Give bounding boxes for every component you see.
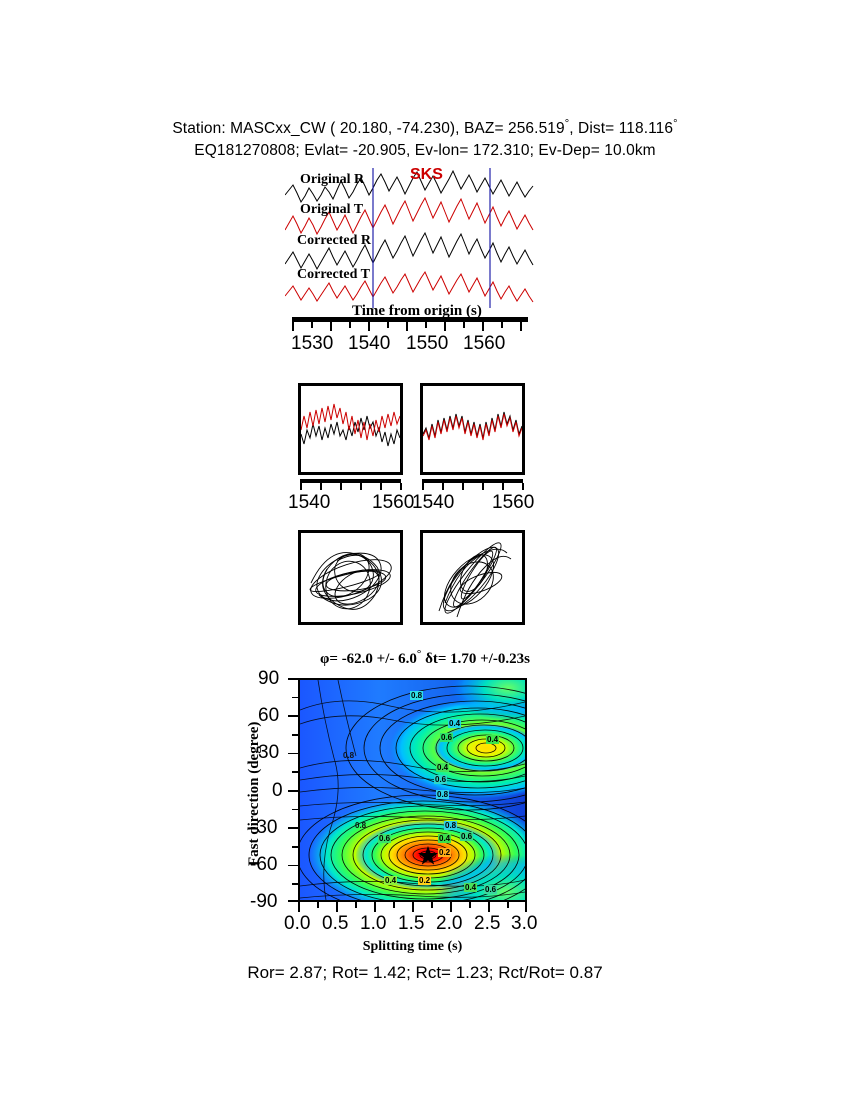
contour-xtick-2.0: 2.0 (436, 913, 462, 935)
hodogram-box-uncorrected (298, 530, 403, 625)
contour-label-11: 0.4 (438, 834, 451, 843)
fastslow-box-uncorrected (298, 383, 403, 475)
contour-plot: 0.8 0.4 0.6 0.4 0.8 0.4 0.6 0.8 0.8 0.8 … (298, 678, 527, 902)
contour-label-3: 0.4 (486, 735, 499, 744)
time-tick-1550: 1550 (406, 333, 448, 355)
time-tick-1530: 1530 (291, 333, 333, 355)
contour-label-16: 0.4 (464, 883, 477, 892)
hodogram-uncorrected (301, 533, 400, 622)
contour-label-10: 0.6 (378, 834, 391, 843)
contour-label-17: 0.6 (484, 885, 497, 894)
time-axis-ticks (292, 322, 528, 331)
time-tick-1540: 1540 (348, 333, 390, 355)
phi-value: φ= -62.0 +/- 6.0 (320, 651, 417, 667)
hodogram-corrected (423, 533, 522, 622)
contour-y-ticks (288, 678, 298, 902)
contour-label-1: 0.4 (448, 719, 461, 728)
contour-x-axis-label: Splitting time (s) (298, 939, 527, 955)
contour-label-5: 0.4 (436, 763, 449, 772)
contour-ytick-0: 0 (272, 780, 283, 802)
trace-label-corrected-r: Corrected R (297, 233, 371, 249)
contour-label-6: 0.6 (434, 775, 447, 784)
fastslow-box-corrected (420, 383, 525, 475)
contour-ytick-60: 60 (258, 705, 279, 727)
contour-xtick-0.5: 0.5 (322, 913, 348, 935)
header-line-2: EQ181270808; Evlat= -20.905, Ev-lon= 172… (0, 142, 850, 160)
fastslow-left-tick-1540: 1540 (288, 492, 330, 514)
fastslow-traces-uncorrected (301, 386, 400, 472)
trace-label-corrected-t: Corrected T (297, 267, 370, 283)
trace-label-original-r: Original R (300, 172, 364, 188)
contour-label-7: 0.8 (436, 790, 449, 799)
contour-xtick-3.0: 3.0 (511, 913, 537, 935)
fastslow-ticks-right (422, 483, 523, 490)
splitting-parameters-title: φ= -62.0 +/- 6.0° δt= 1.70 +/-0.23s (0, 648, 850, 668)
contour-ytick-90: 90 (258, 668, 279, 690)
contour-label-9: 0.8 (444, 821, 457, 830)
contour-label-12: 0.6 (460, 832, 473, 841)
distance-info: , Dist= 118.116 (569, 120, 673, 137)
dt-value: δt= 1.70 +/-0.23s (421, 651, 530, 667)
quality-metrics: Ror= 2.87; Rot= 1.42; Rct= 1.23; Rct/Rot… (0, 963, 850, 983)
contour-ytick-neg30: -30 (250, 817, 277, 839)
station-info: Station: MASCxx_CW ( 20.180, -74.230), B… (172, 120, 564, 137)
contour-label-4: 0.8 (342, 751, 355, 760)
sks-phase-label: SKS (410, 166, 443, 184)
contour-label-15: 0.2 (418, 876, 431, 885)
contour-ytick-neg60: -60 (250, 854, 277, 876)
fast-trace-uncorrected (301, 416, 400, 446)
contour-ytick-30: 30 (258, 742, 279, 764)
contour-label-8: 0.8 (354, 821, 367, 830)
time-tick-1560: 1560 (463, 333, 505, 355)
contour-xtick-1.0: 1.0 (360, 913, 386, 935)
contour-ytick-neg90: -90 (250, 891, 277, 913)
fastslow-right-tick-1540: 1540 (412, 492, 454, 514)
degree-symbol-dist: ° (673, 118, 678, 130)
trace-label-original-t: Original T (300, 202, 363, 218)
contour-label-0: 0.8 (410, 691, 423, 700)
energy-surface (300, 680, 525, 900)
contour-label-13: 0.2 (438, 848, 451, 857)
contour-xtick-2.5: 2.5 (474, 913, 500, 935)
contour-x-ticks (298, 902, 527, 912)
fastslow-left-tick-1560: 1560 (372, 492, 414, 514)
fastslow-traces-corrected (423, 386, 522, 472)
contour-label-2: 0.6 (440, 733, 453, 742)
fastslow-right-tick-1560: 1560 (492, 492, 534, 514)
contour-xtick-0.0: 0.0 (284, 913, 310, 935)
fastslow-ticks-left (300, 483, 401, 490)
contour-xtick-1.5: 1.5 (398, 913, 424, 935)
hodogram-box-corrected (420, 530, 525, 625)
header-line-1: Station: MASCxx_CW ( 20.180, -74.230), B… (0, 118, 850, 138)
contour-label-14: 0.4 (384, 876, 397, 885)
